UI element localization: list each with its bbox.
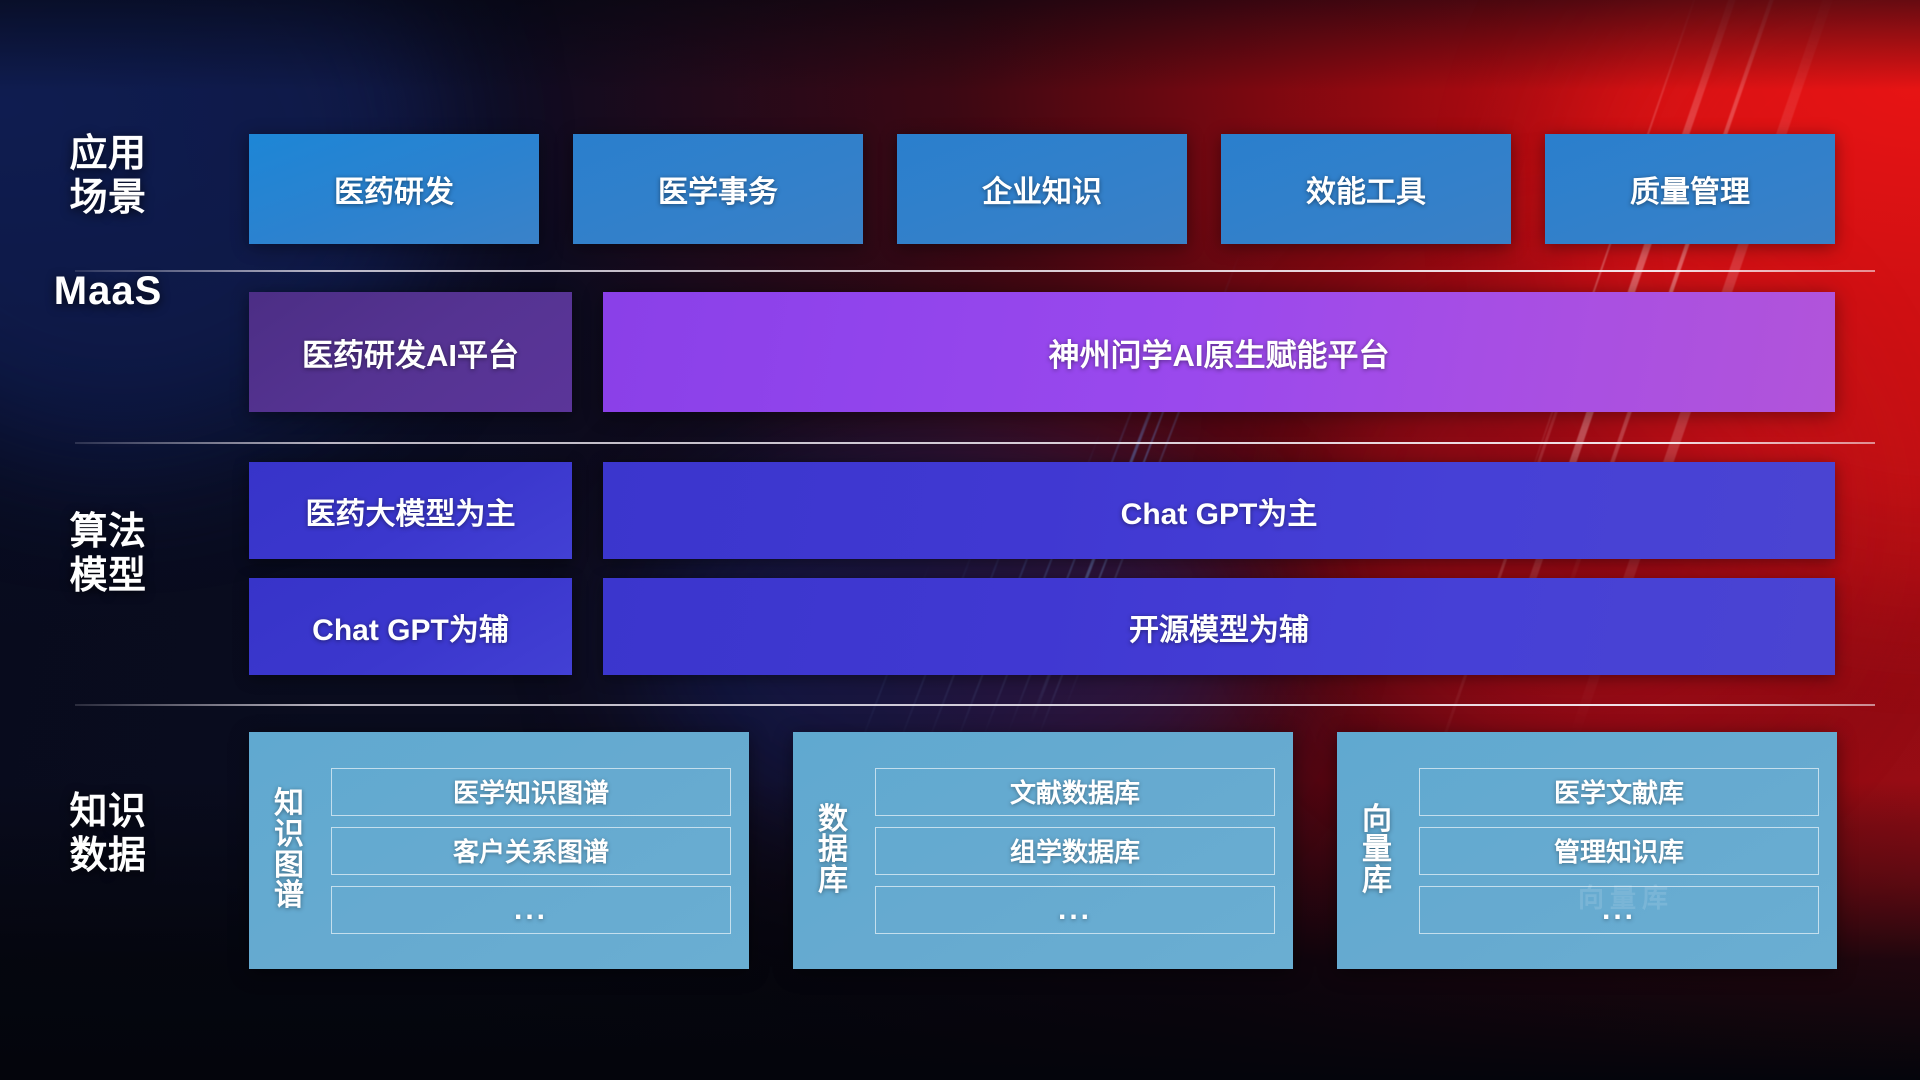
knowledge-group-database[interactable]: 数据库 文献数据库 组学数据库 ... bbox=[793, 732, 1293, 969]
knowledge-group-title: 数据库 bbox=[805, 805, 861, 897]
knowledge-item[interactable]: 客户关系图谱 bbox=[331, 827, 731, 875]
row-label-algorithm-model: 算法 模型 bbox=[0, 510, 216, 599]
algorithm-card-chatgpt-secondary[interactable]: Chat GPT为辅 bbox=[249, 578, 572, 675]
knowledge-item[interactable]: 医学文献库 bbox=[1419, 768, 1819, 816]
knowledge-item[interactable]: 医学知识图谱 bbox=[331, 768, 731, 816]
knowledge-group-title: 向量库 bbox=[1349, 805, 1405, 897]
maas-platform-card-pharma[interactable]: 医药研发AI平台 bbox=[249, 292, 572, 412]
app-scenario-card-5[interactable]: 质量管理 bbox=[1545, 134, 1835, 244]
app-scenario-card-4[interactable]: 效能工具 bbox=[1221, 134, 1511, 244]
algorithm-label: 医药大模型为主 bbox=[306, 489, 516, 533]
maas-platform-label: 医药研发AI平台 bbox=[302, 330, 519, 375]
knowledge-item-more[interactable]: ... bbox=[331, 886, 731, 934]
knowledge-item-list: 医学文献库 管理知识库 ... bbox=[1419, 768, 1819, 934]
maas-platform-label: 神州问学AI原生赋能平台 bbox=[1049, 330, 1390, 375]
knowledge-item-more[interactable]: ... bbox=[875, 886, 1275, 934]
knowledge-item[interactable]: 文献数据库 bbox=[875, 768, 1275, 816]
knowledge-item-list: 文献数据库 组学数据库 ... bbox=[875, 768, 1275, 934]
app-scenario-card-2[interactable]: 医学事务 bbox=[573, 134, 863, 244]
app-scenario-card-3[interactable]: 企业知识 bbox=[897, 134, 1187, 244]
knowledge-item-more[interactable]: ... bbox=[1419, 886, 1819, 934]
algorithm-card-pharma-primary[interactable]: 医药大模型为主 bbox=[249, 462, 572, 559]
row-label-knowledge-data: 知识 数据 bbox=[0, 790, 216, 879]
row-divider-3 bbox=[75, 704, 1875, 706]
knowledge-item[interactable]: 组学数据库 bbox=[875, 827, 1275, 875]
algorithm-card-chatgpt-primary[interactable]: Chat GPT为主 bbox=[603, 462, 1835, 559]
maas-platform-card-shenzhou[interactable]: 神州问学AI原生赋能平台 bbox=[603, 292, 1835, 412]
row-divider-1 bbox=[75, 270, 1875, 272]
architecture-diagram: 应用 场景 医药研发 医学事务 企业知识 效能工具 质量管理 MaaS 医药研发… bbox=[0, 0, 1920, 1080]
app-scenario-label: 质量管理 bbox=[1630, 167, 1750, 211]
knowledge-group-knowledge-graph[interactable]: 知识图谱 医学知识图谱 客户关系图谱 ... bbox=[249, 732, 749, 969]
app-scenario-label: 企业知识 bbox=[982, 167, 1102, 211]
algorithm-label: Chat GPT为主 bbox=[1121, 489, 1318, 533]
app-scenario-label: 医药研发 bbox=[334, 167, 454, 211]
algorithm-label: Chat GPT为辅 bbox=[312, 605, 509, 649]
row-label-maas: MaaS bbox=[0, 268, 216, 315]
row-divider-2 bbox=[75, 442, 1875, 444]
app-scenario-label: 医学事务 bbox=[658, 167, 778, 211]
knowledge-item[interactable]: 管理知识库 bbox=[1419, 827, 1819, 875]
knowledge-item-list: 医学知识图谱 客户关系图谱 ... bbox=[331, 768, 731, 934]
algorithm-label: 开源模型为辅 bbox=[1129, 605, 1309, 649]
app-scenario-label: 效能工具 bbox=[1306, 167, 1426, 211]
algorithm-card-opensource-secondary[interactable]: 开源模型为辅 bbox=[603, 578, 1835, 675]
knowledge-group-vector-db[interactable]: 向量库 医学文献库 管理知识库 ... bbox=[1337, 732, 1837, 969]
app-scenario-card-1[interactable]: 医药研发 bbox=[249, 134, 539, 244]
knowledge-group-title: 知识图谱 bbox=[261, 789, 317, 911]
row-label-application-scenarios: 应用 场景 bbox=[0, 132, 216, 221]
